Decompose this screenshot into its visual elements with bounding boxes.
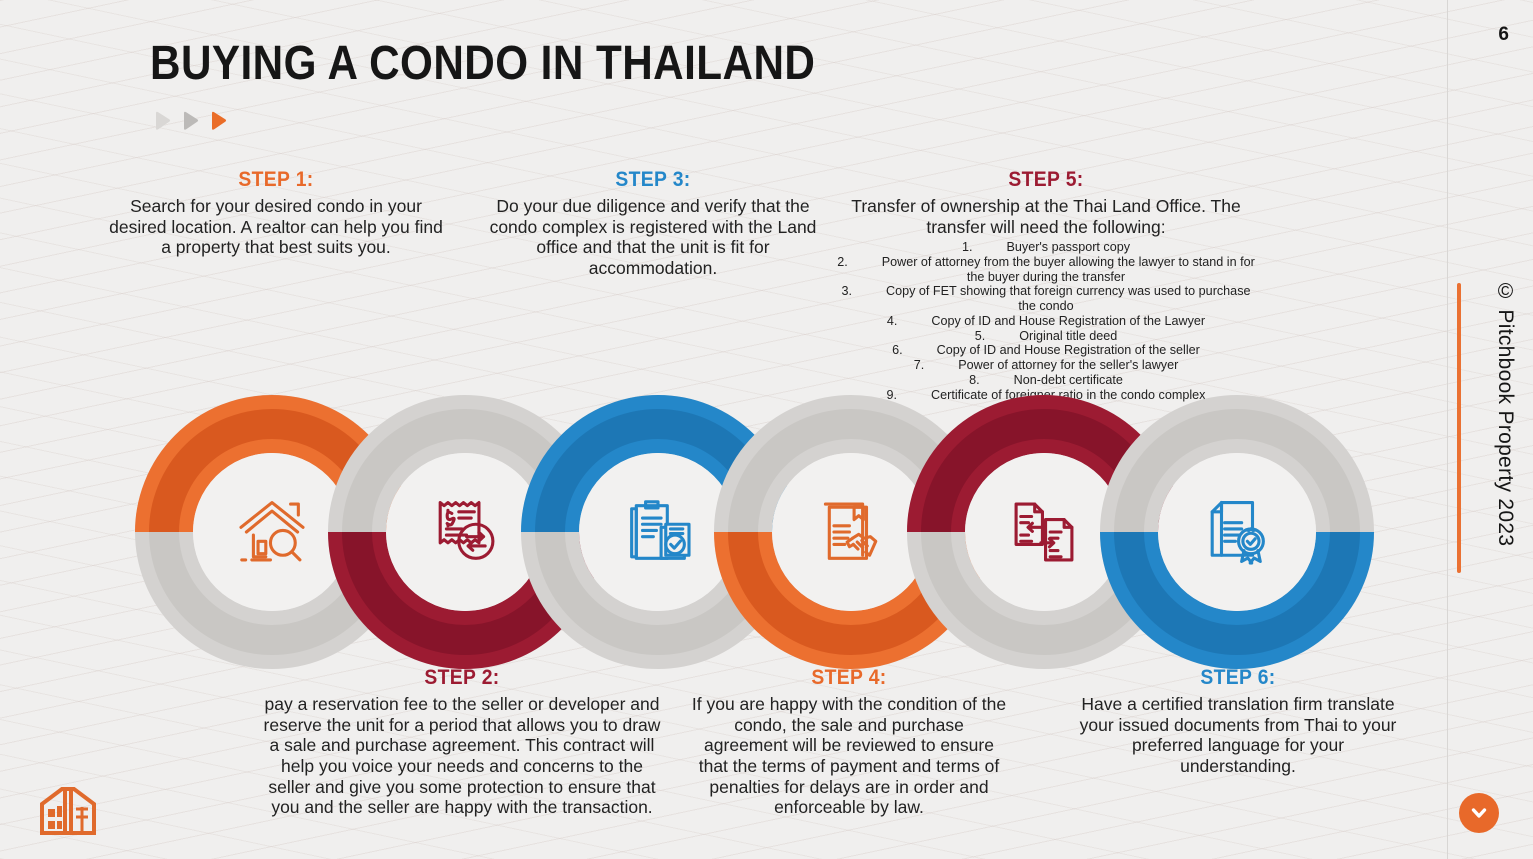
step-5-body: Transfer of ownership at the Thai Land O… bbox=[836, 196, 1256, 237]
step-5-list-item-text: Power of attorney for the seller's lawye… bbox=[958, 358, 1178, 372]
step-4-body: If you are happy with the condition of t… bbox=[690, 694, 1008, 818]
step-5-list-item: 2.Power of attorney from the buyer allow… bbox=[836, 255, 1256, 284]
chain-node-4 bbox=[743, 424, 959, 640]
step-5-list-item: 3.Copy of FET showing that foreign curre… bbox=[836, 284, 1256, 313]
step-2-text-block: STEP 2: pay a reservation fee to the sel… bbox=[262, 666, 662, 818]
step-6-label: STEP 6: bbox=[1086, 666, 1390, 690]
chain-node-6 bbox=[1129, 424, 1345, 640]
step-5-list-item: 9.Certificate of foreigner ratio in the … bbox=[836, 388, 1256, 403]
step-5-list-item: 7.Power of attorney for the seller's law… bbox=[836, 358, 1256, 373]
title-marker-group bbox=[152, 110, 228, 132]
step-5-list-item-text: Buyer's passport copy bbox=[1007, 240, 1131, 254]
contract-handshake-icon bbox=[825, 504, 875, 558]
step-4-text-block: STEP 4: If you are happy with the condit… bbox=[690, 666, 1008, 818]
step-1-label: STEP 1: bbox=[121, 168, 430, 192]
step-5-list-item-text: Original title deed bbox=[1019, 329, 1117, 343]
step-5-list-item: 4.Copy of ID and House Registration of t… bbox=[836, 314, 1256, 329]
triangle-marker-mid-icon bbox=[180, 110, 200, 132]
step-5-list-item-text: Copy of ID and House Registration of the… bbox=[931, 314, 1205, 328]
building-logo bbox=[38, 785, 98, 837]
step-3-text-block: STEP 3: Do your due diligence and verify… bbox=[483, 168, 823, 279]
step-5-label: STEP 5: bbox=[853, 168, 1239, 192]
triangle-marker-accent-icon bbox=[208, 110, 228, 132]
step-2-label: STEP 2: bbox=[278, 666, 646, 690]
step-5-list-item-number: 9. bbox=[887, 388, 898, 403]
step-5-list-item: 8.Non-debt certificate bbox=[836, 373, 1256, 388]
step-5-list-item-number: 7. bbox=[914, 358, 925, 373]
copyright-text: © Pitchbook Property 2023 bbox=[1493, 280, 1517, 546]
step-5-list-item-text: Copy of ID and House Registration of the… bbox=[937, 343, 1200, 357]
step-5-list-item: 5.Original title deed bbox=[836, 329, 1256, 344]
step-5-list-item-number: 3. bbox=[842, 284, 853, 299]
document-transfer-icon bbox=[1016, 504, 1072, 560]
step-1-text-block: STEP 1: Search for your desired condo in… bbox=[108, 168, 444, 258]
step-5-list-item-number: 1. bbox=[962, 240, 973, 255]
chevron-down-icon bbox=[1469, 803, 1489, 823]
chain-node-1 bbox=[164, 424, 380, 640]
scroll-down-button[interactable] bbox=[1459, 793, 1499, 833]
step-3-label: STEP 3: bbox=[497, 168, 810, 192]
step-5-list-item-number: 2. bbox=[837, 255, 848, 270]
step-5-list-item-number: 8. bbox=[969, 373, 980, 388]
step-6-text-block: STEP 6: Have a certified translation fir… bbox=[1073, 666, 1403, 777]
page-title: BUYING A CONDO IN THAILAND bbox=[150, 40, 815, 88]
step-5-list-item-number: 5. bbox=[975, 329, 986, 344]
copyright-accent-rule bbox=[1457, 283, 1461, 573]
chain-node-5 bbox=[936, 424, 1152, 640]
step-1-body: Search for your desired condo in your de… bbox=[108, 196, 444, 258]
step-5-requirements-list: 1.Buyer's passport copy2.Power of attorn… bbox=[836, 240, 1256, 402]
certificate-award-icon bbox=[1212, 503, 1263, 563]
triangle-marker-light-icon bbox=[152, 110, 172, 132]
invoice-transfer-icon bbox=[440, 503, 493, 559]
step-5-list-item-text: Power of attorney from the buyer allowin… bbox=[882, 255, 1255, 284]
step-5-text-block: STEP 5: Transfer of ownership at the Tha… bbox=[836, 168, 1256, 402]
step-3-body: Do your due diligence and verify that th… bbox=[483, 196, 823, 279]
step-5-list-item: 1.Buyer's passport copy bbox=[836, 240, 1256, 255]
step-4-label: STEP 4: bbox=[703, 666, 996, 690]
step-2-body: pay a reservation fee to the seller or d… bbox=[262, 694, 662, 818]
chain-node-2 bbox=[357, 424, 573, 640]
page-number: 6 bbox=[1498, 24, 1509, 46]
right-sidebar: 6 © Pitchbook Property 2023 bbox=[1447, 0, 1533, 859]
step-5-list-item: 6.Copy of ID and House Registration of t… bbox=[836, 343, 1256, 358]
house-search-icon bbox=[241, 503, 303, 560]
step-5-list-item-number: 6. bbox=[892, 343, 903, 358]
step-5-list-item-number: 4. bbox=[887, 314, 898, 329]
clipboard-check-icon bbox=[632, 502, 689, 559]
step-5-list-item-text: Certificate of foreigner ratio in the co… bbox=[931, 388, 1205, 402]
step-6-body: Have a certified translation firm transl… bbox=[1073, 694, 1403, 777]
step-5-list-item-text: Non-debt certificate bbox=[1014, 373, 1123, 387]
slide-canvas: BUYING A CONDO IN THAILAND STEP 1: Searc… bbox=[0, 0, 1533, 859]
chain-node-3 bbox=[550, 424, 766, 640]
step-5-list-item-text: Copy of FET showing that foreign currenc… bbox=[886, 284, 1250, 313]
